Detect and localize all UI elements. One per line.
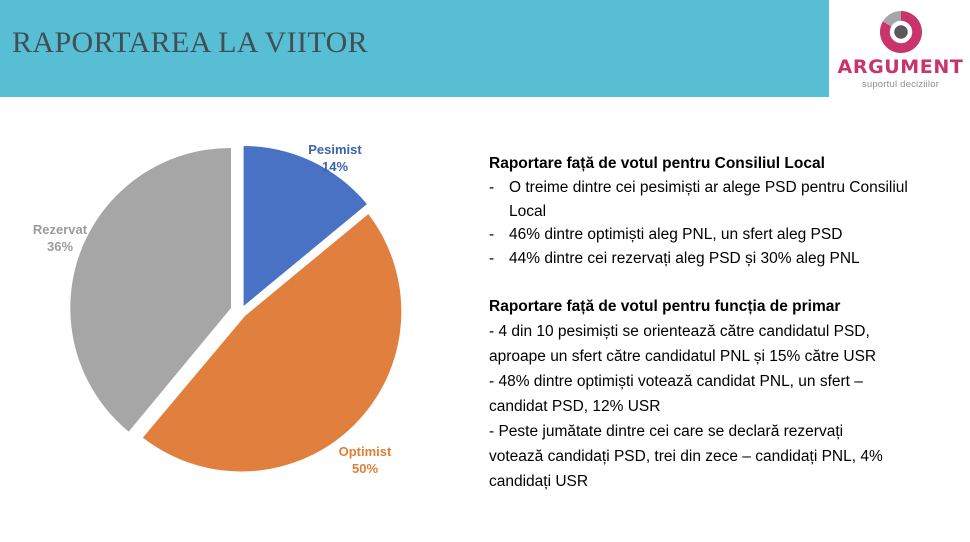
pie-label-optimist: Optimist 50% xyxy=(310,443,420,477)
block-one-heading: Raportare față de votul pentru Consiliul… xyxy=(489,152,944,175)
bullet-dash: - xyxy=(489,247,509,271)
page-title: RAPORTAREA LA VIITOR xyxy=(12,26,368,60)
body-line: - 4 din 10 pesimiști se orientează către… xyxy=(489,319,944,344)
text-block-consiliul-local: Raportare față de votul pentru Consiliul… xyxy=(489,152,944,270)
bullet-text: O treime dintre cei pesimiști ar alege P… xyxy=(509,176,944,223)
argument-ring-icon xyxy=(876,7,926,57)
pie-label-rezervat-value: 36% xyxy=(5,238,115,255)
logo-tagline: suportul deciziilor xyxy=(862,79,939,90)
pie-label-pesimist: Pesimist 14% xyxy=(280,141,390,175)
body-line: aproape un sfert către candidatul PNL și… xyxy=(489,344,944,369)
body-line: candidați USR xyxy=(489,469,944,494)
pie-label-optimist-value: 50% xyxy=(310,460,420,477)
pie-label-rezervat-name: Rezervat xyxy=(5,221,115,238)
pie-label-rezervat: Rezervat 36% xyxy=(5,221,115,255)
bullet-text: 46% dintre optimiști aleg PNL, un sfert … xyxy=(509,223,944,247)
body-line: candidat PSD, 12% USR xyxy=(489,394,944,419)
text-block-functia-de-primar: Raportare față de votul pentru funcția d… xyxy=(489,295,944,494)
pie-label-pesimist-name: Pesimist xyxy=(280,141,390,158)
logo-wordmark: ARGUMENT xyxy=(838,58,964,77)
pie-label-optimist-name: Optimist xyxy=(310,443,420,460)
body-line: - 48% dintre optimiști votează candidat … xyxy=(489,369,944,394)
bullet-item: - 44% dintre cei rezervați aleg PSD și 3… xyxy=(489,247,944,271)
bullet-dash: - xyxy=(489,176,509,223)
pie-label-pesimist-value: 14% xyxy=(280,158,390,175)
pie-chart: Pesimist 14% Optimist 50% Rezervat 36% xyxy=(0,103,470,542)
bullet-text: 44% dintre cei rezervați aleg PSD și 30%… xyxy=(509,247,944,271)
bullet-line-1: O treime dintre cei pesimiști ar alege P… xyxy=(509,179,845,196)
bullet-item: - O treime dintre cei pesimiști ar alege… xyxy=(489,176,944,223)
block-two-heading: Raportare față de votul pentru funcția d… xyxy=(489,295,944,318)
commentary-column: Raportare față de votul pentru Consiliul… xyxy=(489,152,944,494)
body-line: votează candidați PSD, trei din zece – c… xyxy=(489,444,944,469)
bullet-dash: - xyxy=(489,223,509,247)
brand-logo: ARGUMENT suportul deciziilor xyxy=(831,0,970,97)
slide-header-band: RAPORTAREA LA VIITOR xyxy=(0,0,829,97)
bullet-item: - 46% dintre optimiști aleg PNL, un sfer… xyxy=(489,223,944,247)
body-line: - Peste jumătate dintre cei care se decl… xyxy=(489,419,944,444)
